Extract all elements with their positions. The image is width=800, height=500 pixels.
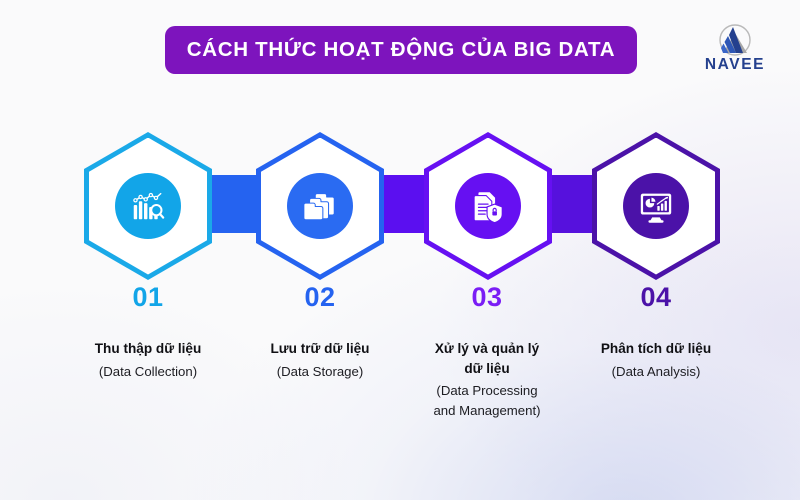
monitor-analytics-icon: [637, 187, 675, 225]
step-1-title-en: (Data Collection): [60, 362, 236, 381]
step-2-hexagon[interactable]: [256, 132, 384, 280]
step-3-hexagon[interactable]: [424, 132, 552, 280]
document-shield-lock-icon: [469, 187, 507, 225]
navee-mountain-icon: [711, 24, 759, 56]
page-title-banner: CÁCH THỨC HOẠT ĐỘNG CỦA BIG DATA: [165, 26, 637, 74]
step-4-title-en: (Data Analysis): [568, 362, 744, 381]
step-2-title-en: (Data Storage): [232, 362, 408, 381]
step-4-icon-circle: [623, 173, 689, 239]
step-4-hexagon[interactable]: [592, 132, 720, 280]
step-3-number: 03: [399, 284, 575, 311]
step-3-caption: 03 Xử lý và quản lý dữ liệu (Data Proces…: [399, 284, 575, 420]
page-title: CÁCH THỨC HOẠT ĐỘNG CỦA BIG DATA: [187, 38, 616, 62]
process-flow: [0, 132, 800, 280]
step-2-title-vi: Lưu trữ dữ liệu: [232, 339, 408, 359]
folders-icon: [301, 187, 339, 225]
step-2-icon-circle: [287, 173, 353, 239]
step-3-title-vi: Xử lý và quản lý dữ liệu: [399, 339, 575, 378]
bar-chart-magnifier-icon: [129, 187, 167, 225]
step-1-caption: 01 Thu thập dữ liệu (Data Collection): [60, 284, 236, 381]
step-3-icon-circle: [455, 173, 521, 239]
step-3-title-vi-line1: Xử lý và quản lý: [399, 339, 575, 359]
step-3-title-vi-line2: dữ liệu: [399, 359, 575, 379]
step-3-title-en: (Data Processing and Management): [399, 381, 575, 419]
step-4-title-vi: Phân tích dữ liệu: [568, 339, 744, 359]
step-1-icon-circle: [115, 173, 181, 239]
logo-wordmark: NAVEE: [705, 57, 765, 73]
step-4-caption: 04 Phân tích dữ liệu (Data Analysis): [568, 284, 744, 381]
step-2-caption: 02 Lưu trữ dữ liệu (Data Storage): [232, 284, 408, 381]
step-3-title-en-line2: and Management): [399, 401, 575, 420]
step-3-title-en-line1: (Data Processing: [399, 381, 575, 400]
step-1-number: 01: [60, 284, 236, 311]
step-1-hexagon[interactable]: [84, 132, 212, 280]
step-2-number: 02: [232, 284, 408, 311]
step-4-number: 04: [568, 284, 744, 311]
step-1-title-vi: Thu thập dữ liệu: [60, 339, 236, 359]
brand-logo: NAVEE: [689, 24, 781, 76]
